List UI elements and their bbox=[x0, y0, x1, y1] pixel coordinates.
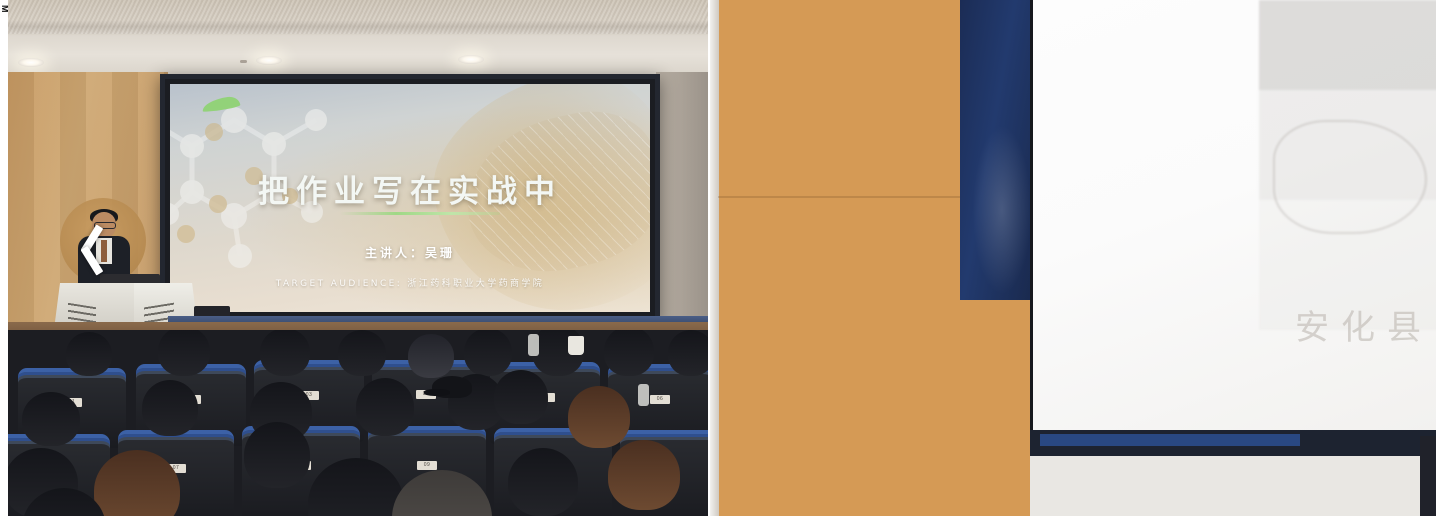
ceiling-sensor bbox=[240, 60, 247, 63]
seat-number-tag: 09 bbox=[417, 461, 437, 470]
presentation-slide: 把作业写在实战中 主讲人：吴珊 TARGET AUDIENCE: 浙江药科职业大… bbox=[170, 84, 650, 312]
wood-wall-panel bbox=[718, 0, 968, 516]
screen-washed-image bbox=[1259, 0, 1436, 330]
ceiling-light-icon bbox=[256, 56, 282, 65]
floor-area bbox=[1030, 456, 1436, 516]
audience-head bbox=[464, 330, 512, 376]
slide-speaker-line: 主讲人：吴珊 bbox=[170, 244, 650, 261]
presenter-scene: 安化县 浙江药科职业大学 ZJPU ZHEJIANG bbox=[710, 0, 1436, 516]
slide-title: 把作业写在实战中 bbox=[170, 166, 650, 211]
audience-head bbox=[142, 380, 198, 436]
baseball-cap bbox=[432, 376, 472, 398]
photo-viewer-stage: M bbox=[0, 0, 1436, 516]
audience-section: 01 02 03 04 05 06 07 08 09 10 bbox=[8, 330, 708, 516]
ceiling-light-icon bbox=[458, 55, 484, 64]
audience-head bbox=[408, 334, 454, 378]
auditorium-scene: 把作业写在实战中 主讲人：吴珊 TARGET AUDIENCE: 浙江药科职业大… bbox=[8, 0, 708, 516]
right-photo[interactable]: 安化县 浙江药科职业大学 ZJPU ZHEJIANG bbox=[710, 0, 1436, 516]
screen-caption-text: 安化县 bbox=[1295, 300, 1433, 349]
ceiling bbox=[8, 0, 708, 78]
audience-head bbox=[22, 392, 80, 446]
slide-audience-line: TARGET AUDIENCE: 浙江药科职业大学药商学院 bbox=[170, 276, 650, 289]
water-bottle bbox=[638, 384, 649, 406]
audience-head bbox=[158, 330, 210, 376]
audience-head bbox=[608, 440, 680, 510]
stage-blue-bar bbox=[1040, 434, 1300, 446]
slide-title-underline bbox=[340, 212, 500, 215]
audience-head bbox=[338, 330, 386, 376]
audience-head bbox=[260, 330, 310, 376]
blue-wall-stripe bbox=[960, 0, 1030, 300]
audience-head bbox=[604, 330, 654, 376]
seat-number-tag: 06 bbox=[650, 395, 670, 404]
wall-seam bbox=[718, 196, 968, 198]
prev-image-chevron-icon[interactable] bbox=[66, 222, 112, 278]
ceiling-light-icon bbox=[18, 58, 44, 67]
stage-step-block bbox=[1420, 436, 1436, 516]
audience-head bbox=[668, 330, 708, 376]
audience-head bbox=[244, 422, 310, 488]
audience-head bbox=[568, 386, 630, 448]
left-gutter: M bbox=[0, 0, 8, 516]
audience-head bbox=[356, 378, 414, 436]
left-photo[interactable]: 把作业写在实战中 主讲人：吴珊 TARGET AUDIENCE: 浙江药科职业大… bbox=[8, 0, 708, 516]
right-wall-panel bbox=[656, 72, 708, 322]
water-bottle bbox=[528, 334, 539, 356]
paper-cup bbox=[568, 336, 584, 355]
audience-head bbox=[494, 370, 548, 424]
projection-screen: 把作业写在实战中 主讲人：吴珊 TARGET AUDIENCE: 浙江药科职业大… bbox=[160, 74, 660, 322]
audience-head bbox=[508, 448, 578, 516]
audience-head bbox=[66, 332, 112, 376]
projection-screen-right: 安化县 bbox=[1030, 0, 1436, 430]
